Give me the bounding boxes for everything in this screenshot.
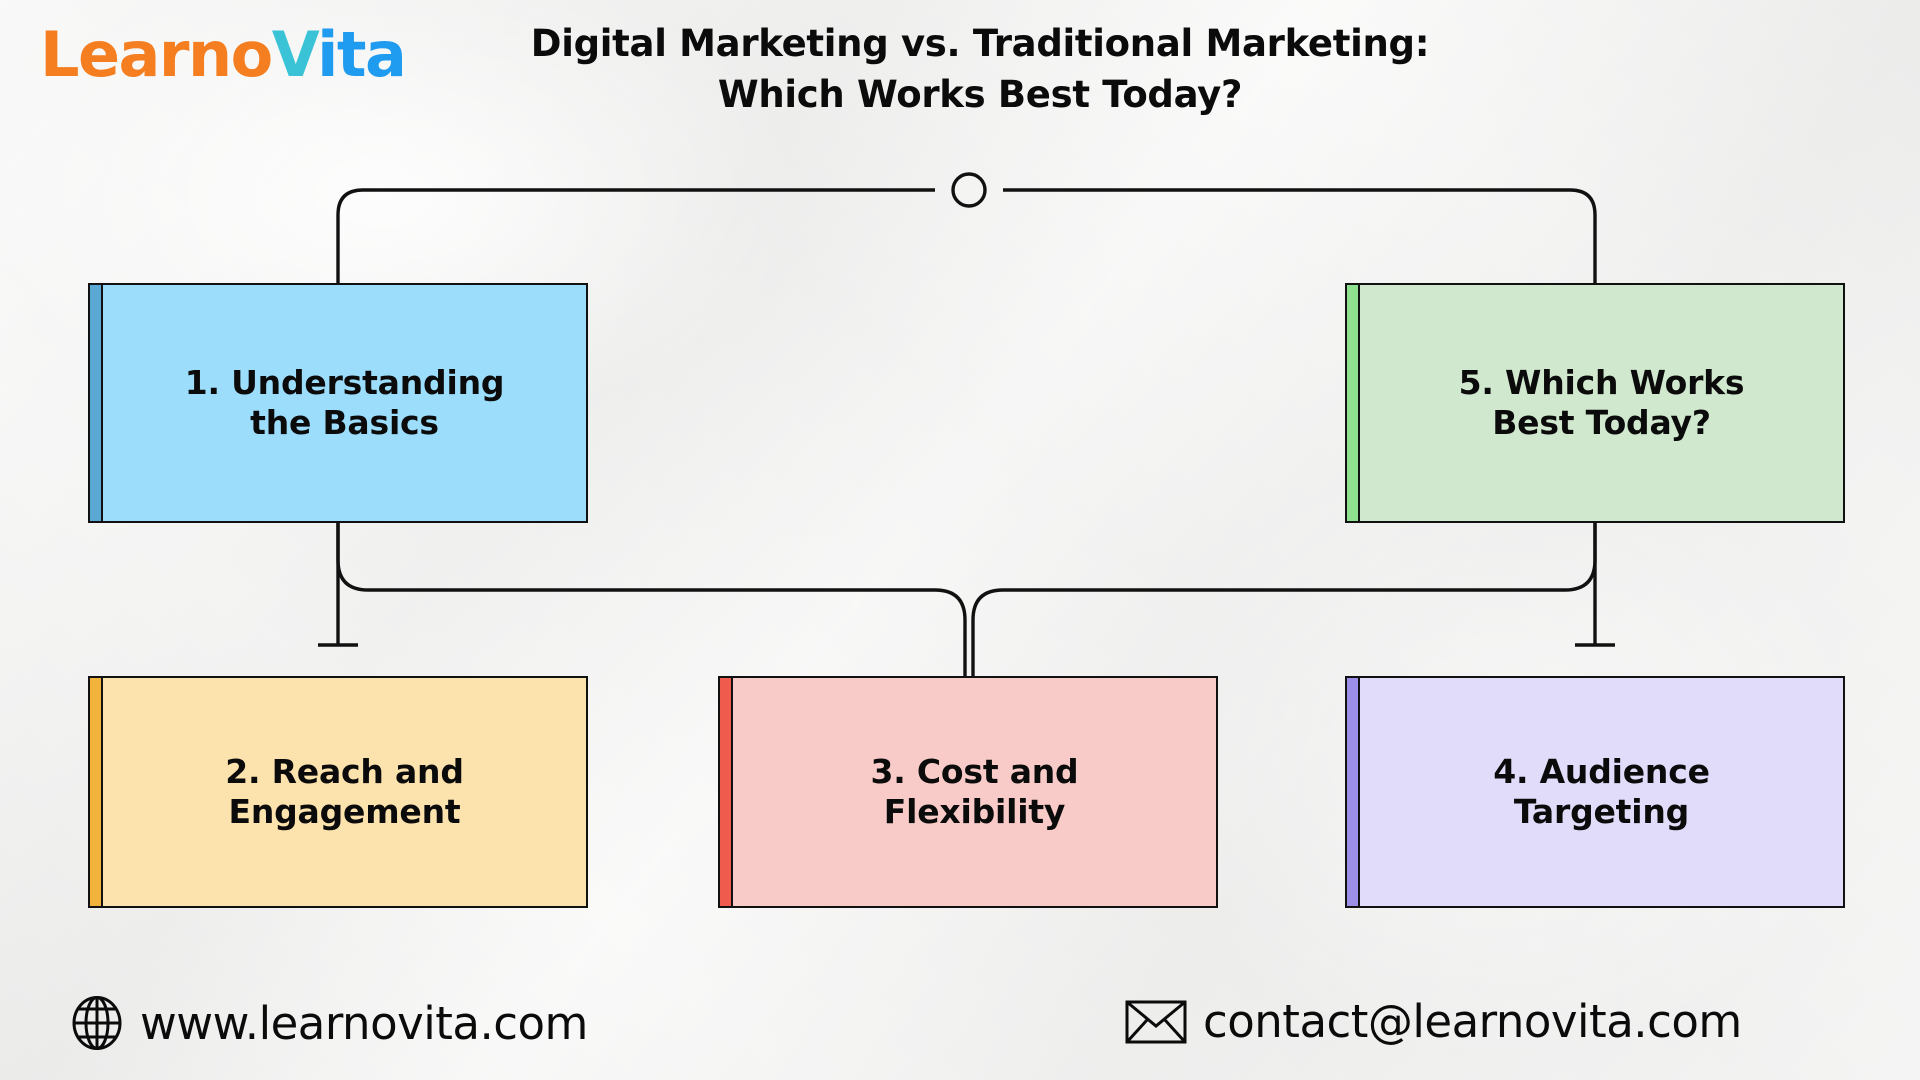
hub-circle	[953, 174, 985, 206]
globe-icon	[70, 995, 124, 1051]
node-understanding-the-basics[interactable]: 1. Understanding the Basics	[88, 283, 588, 523]
node-label-1: 1. Understanding the Basics	[185, 363, 505, 442]
node-body-1: 1. Understanding the Basics	[101, 283, 588, 523]
node-accent-bar-3	[718, 676, 731, 908]
connector-top-right	[1003, 190, 1595, 283]
logo-text-learno: Learno	[40, 18, 272, 91]
node-body-2: 2. Reach and Engagement	[101, 676, 588, 908]
logo-text-ita: ita	[317, 18, 405, 91]
footer-website[interactable]: www.learnovita.com	[70, 995, 588, 1051]
connector-lines	[0, 0, 1920, 1080]
connector-mid-to-node3-right	[973, 590, 1003, 676]
node-body-4: 4. Audience Targeting	[1358, 676, 1845, 908]
logo-text-v: V	[272, 18, 317, 91]
connector-mid-to-node3-left	[935, 590, 965, 676]
node-label-4: 4. Audience Targeting	[1493, 752, 1710, 831]
footer-email[interactable]: contact@learnovita.com	[1125, 995, 1742, 1048]
node-accent-bar-4	[1345, 676, 1358, 908]
node-accent-bar-1	[88, 283, 101, 523]
website-text: www.learnovita.com	[140, 997, 588, 1050]
node-accent-bar-5	[1345, 283, 1358, 523]
connector-node5-elbow	[1003, 523, 1595, 590]
node-body-5: 5. Which Works Best Today?	[1358, 283, 1845, 523]
node-audience-targeting[interactable]: 4. Audience Targeting	[1345, 676, 1845, 908]
email-text: contact@learnovita.com	[1203, 995, 1742, 1048]
node-accent-bar-2	[88, 676, 101, 908]
node-label-3: 3. Cost and Flexibility	[871, 752, 1079, 831]
learnovita-logo: LearnoVita	[40, 24, 405, 86]
envelope-icon	[1125, 998, 1187, 1046]
node-reach-and-engagement[interactable]: 2. Reach and Engagement	[88, 676, 588, 908]
node-cost-and-flexibility[interactable]: 3. Cost and Flexibility	[718, 676, 1218, 908]
page-title: Digital Marketing vs. Traditional Market…	[480, 18, 1480, 120]
node-body-3: 3. Cost and Flexibility	[731, 676, 1218, 908]
node-label-2: 2. Reach and Engagement	[225, 752, 464, 831]
node-which-works-best-today[interactable]: 5. Which Works Best Today?	[1345, 283, 1845, 523]
connector-top-left	[338, 190, 935, 283]
connector-node1-elbow	[338, 523, 935, 590]
node-label-5: 5. Which Works Best Today?	[1459, 363, 1745, 442]
diagram-canvas: LearnoVita Digital Marketing vs. Traditi…	[0, 0, 1920, 1080]
